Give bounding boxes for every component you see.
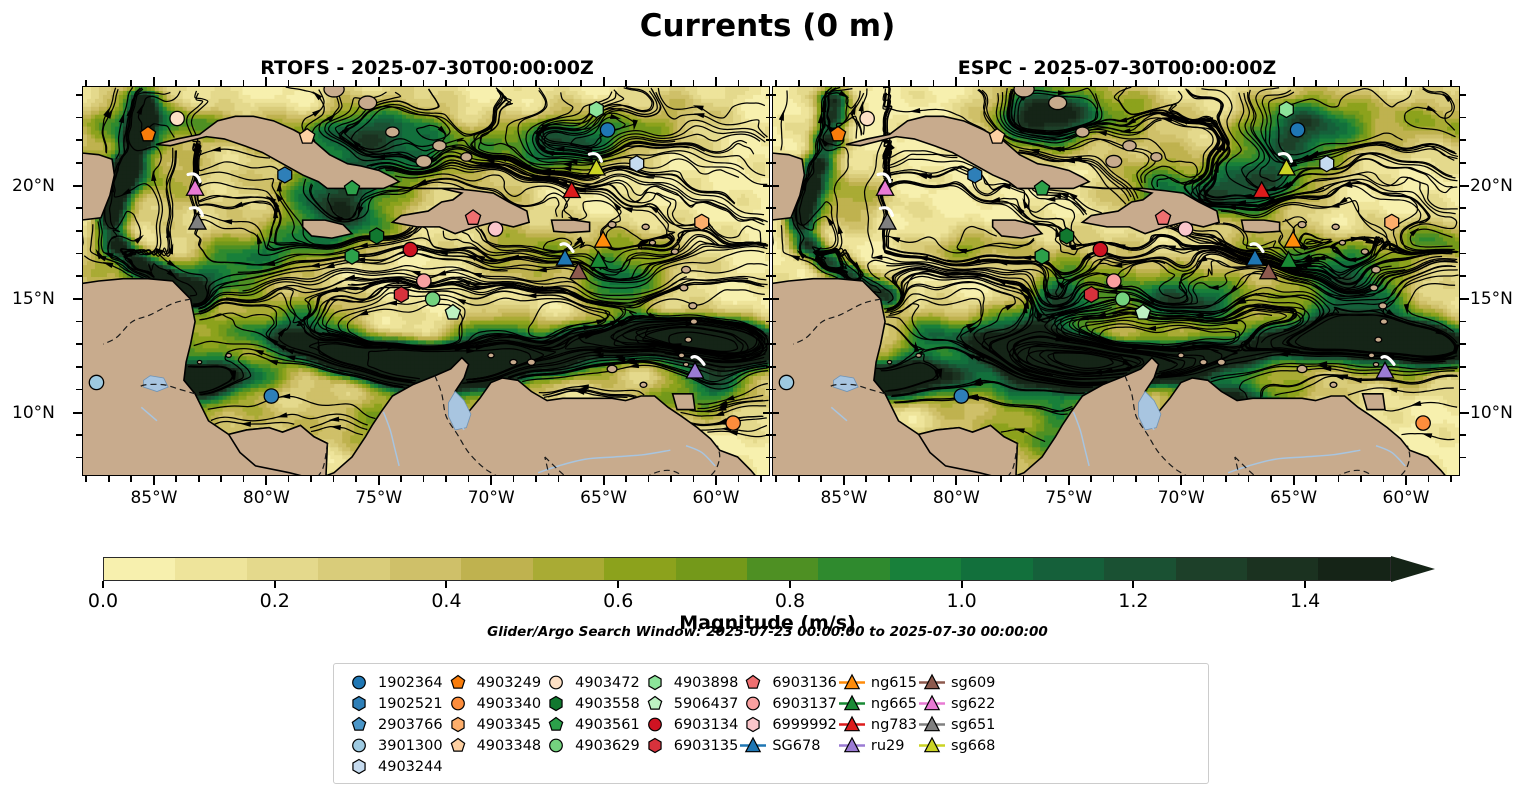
x-tick-top xyxy=(1023,80,1025,86)
x-tick-top xyxy=(603,77,605,86)
y-tick xyxy=(766,94,772,96)
colorbar-segment xyxy=(390,558,461,580)
x-axis-label: 60°W xyxy=(1383,488,1430,508)
x-tick xyxy=(310,476,312,482)
platform-marker xyxy=(1093,242,1107,256)
legend-label: sg622 xyxy=(947,696,995,712)
colorbar[interactable] xyxy=(103,557,1433,581)
y-tick xyxy=(766,434,772,436)
colorbar-tick xyxy=(274,581,276,588)
x-tick xyxy=(888,476,890,482)
legend-item[interactable]: 6903137 xyxy=(738,693,837,714)
x-axis-label: 65°W xyxy=(1270,488,1317,508)
x-tick xyxy=(220,476,222,482)
y-tick xyxy=(766,162,772,164)
platform-marker xyxy=(1385,214,1399,230)
legend-item[interactable]: 4903348 xyxy=(443,735,542,756)
x-tick xyxy=(468,476,470,482)
x-axis-label: 80°W xyxy=(243,488,290,508)
island xyxy=(690,319,697,324)
x-tick-top xyxy=(738,80,740,86)
legend-item[interactable]: 4903472 xyxy=(541,672,640,693)
platform-marker xyxy=(426,292,440,306)
legend-label: 4903345 xyxy=(473,717,542,733)
island xyxy=(678,353,684,358)
x-tick xyxy=(910,476,912,482)
y-tick xyxy=(76,139,82,141)
legend-item[interactable]: 1902521 xyxy=(344,693,443,714)
x-tick-top xyxy=(760,80,762,86)
colorbar-tick xyxy=(445,581,447,588)
x-tick xyxy=(1270,476,1272,482)
x-tick xyxy=(603,476,605,485)
y-tick xyxy=(766,457,772,459)
colorbar-tick-label: 1.2 xyxy=(1118,590,1148,612)
island xyxy=(1368,353,1374,358)
colorbar-tick xyxy=(617,581,619,588)
legend-marker-hexagon-icon xyxy=(640,673,670,692)
x-axis-label: 70°W xyxy=(468,488,515,508)
legend-marker-hexagon-icon xyxy=(344,694,374,713)
legend-label: 6903137 xyxy=(768,696,837,712)
panel-title-right: ESPC - 2025-07-30T00:00:00Z xyxy=(772,57,1462,79)
island xyxy=(916,353,921,357)
x-tick xyxy=(760,476,762,482)
x-tick xyxy=(1068,476,1070,485)
legend-item[interactable]: 4903244 xyxy=(344,756,443,777)
colorbar-tick-label: 1.0 xyxy=(947,590,977,612)
island xyxy=(887,360,891,363)
x-axis-label: 75°W xyxy=(355,488,402,508)
platform-marker xyxy=(600,123,614,137)
legend-marker-circle-icon xyxy=(541,736,571,755)
legend-column: ng615ng665ng783ru29 xyxy=(837,672,917,756)
y-tick xyxy=(76,253,82,255)
legend-label: 4903244 xyxy=(374,759,443,775)
colorbar-segment xyxy=(318,558,389,580)
y-axis-label-right: 15°N xyxy=(1470,289,1513,309)
legend-marker-hexagon-icon xyxy=(640,736,670,755)
legend-marker-triangle-line-icon xyxy=(917,694,947,713)
legend-marker-pentagon-icon xyxy=(344,715,374,734)
colorbar-segment xyxy=(175,558,246,580)
colorbar-segment xyxy=(1176,558,1247,580)
y-tick-right xyxy=(1460,366,1466,368)
island xyxy=(1200,359,1207,364)
island xyxy=(685,337,692,342)
map-panel-rtofs[interactable] xyxy=(82,86,770,476)
y-tick xyxy=(76,321,82,323)
colorbar-segment xyxy=(890,558,961,580)
x-tick-top xyxy=(1158,80,1160,86)
y-tick-right xyxy=(1460,434,1466,436)
legend-marker-hexagon-icon xyxy=(443,715,473,734)
colorbar-segment xyxy=(461,558,532,580)
x-tick xyxy=(490,476,492,485)
x-tick-top xyxy=(1360,80,1362,86)
x-tick-top xyxy=(1293,77,1295,86)
x-tick-top xyxy=(85,80,87,86)
platform-marker xyxy=(589,102,603,118)
y-tick xyxy=(766,389,772,391)
x-tick xyxy=(715,476,717,485)
y-tick xyxy=(766,366,772,368)
platform-marker xyxy=(264,389,278,403)
x-tick xyxy=(243,476,245,482)
platform-marker xyxy=(370,228,384,244)
y-tick xyxy=(766,275,772,277)
x-tick-top xyxy=(108,80,110,86)
map-panel-espc[interactable] xyxy=(772,86,1460,476)
legend-item[interactable]: ng615 xyxy=(837,672,917,693)
x-axis-label: 60°W xyxy=(693,488,740,508)
legend-marker-pentagon-icon xyxy=(541,715,571,734)
colorbar-tick xyxy=(961,581,963,588)
platform-marker xyxy=(488,222,502,236)
colorbar-tick xyxy=(789,581,791,588)
island xyxy=(680,285,688,291)
y-axis-label-right: 20°N xyxy=(1470,176,1513,196)
island xyxy=(1332,224,1339,229)
x-tick xyxy=(648,476,650,482)
legend-item[interactable]: 1902364 xyxy=(344,672,443,693)
legend-item[interactable]: 6903134 xyxy=(640,714,739,735)
x-tick xyxy=(1315,476,1317,482)
x-tick-top xyxy=(1450,80,1452,86)
y-tick-right xyxy=(1460,457,1466,459)
y-tick-right xyxy=(1460,117,1466,119)
y-tick xyxy=(76,389,82,391)
y-tick xyxy=(763,185,772,187)
x-tick-top xyxy=(198,80,200,86)
x-tick xyxy=(198,476,200,482)
x-tick xyxy=(1360,476,1362,482)
x-axis-label: 80°W xyxy=(933,488,980,508)
colorbar-segment xyxy=(961,558,1032,580)
colorbar-segment xyxy=(676,558,747,580)
y-tick-right xyxy=(1460,162,1466,164)
x-tick-top xyxy=(423,80,425,86)
legend-marker-triangle-line-icon xyxy=(837,736,867,755)
y-tick xyxy=(76,117,82,119)
x-tick xyxy=(1225,476,1227,482)
y-tick xyxy=(766,117,772,119)
x-tick-top xyxy=(130,80,132,86)
legend-label: sg609 xyxy=(947,675,995,691)
legend-label: 4903249 xyxy=(473,675,542,691)
x-tick-top xyxy=(490,77,492,86)
colorbar-tick xyxy=(1132,581,1134,588)
x-tick xyxy=(355,476,357,482)
platform-marker xyxy=(954,389,968,403)
y-tick xyxy=(76,230,82,232)
x-tick-top xyxy=(513,80,515,86)
x-tick xyxy=(865,476,867,482)
x-tick xyxy=(978,476,980,482)
y-tick xyxy=(763,412,772,414)
legend-label: 4903348 xyxy=(473,738,542,754)
x-tick-top xyxy=(843,77,845,86)
legend-item[interactable]: 6903135 xyxy=(640,735,739,756)
x-tick xyxy=(175,476,177,482)
platform-marker xyxy=(1290,123,1304,137)
y-tick xyxy=(73,185,82,187)
y-axis-label-left: 15°N xyxy=(12,289,55,309)
legend-column: sg609sg622sg651sg668 xyxy=(917,672,995,756)
legend-label: ng783 xyxy=(867,717,917,733)
legend-label: 4903340 xyxy=(473,696,542,712)
land-trinidad xyxy=(673,394,695,410)
legend-item[interactable]: 5906437 xyxy=(640,693,739,714)
x-tick xyxy=(1203,476,1205,482)
island xyxy=(226,353,231,357)
island xyxy=(510,359,517,364)
x-tick-top xyxy=(468,80,470,86)
x-tick xyxy=(1158,476,1160,482)
x-tick xyxy=(1405,476,1407,485)
x-tick xyxy=(378,476,380,485)
legend-marker-triangle-line-icon xyxy=(837,715,867,734)
platform-marker xyxy=(89,375,103,389)
x-tick-top xyxy=(220,80,222,86)
platform-marker xyxy=(1107,274,1121,288)
page-title: Currents (0 m) xyxy=(0,8,1535,44)
y-tick xyxy=(76,94,82,96)
colorbar-extend-arrow xyxy=(1391,556,1435,582)
platform-marker xyxy=(1178,222,1192,236)
legend-item[interactable]: 6999992 xyxy=(738,714,837,735)
legend-item[interactable]: 4903629 xyxy=(541,735,640,756)
legend-marker-triangle-line-icon xyxy=(917,736,947,755)
platform-marker xyxy=(1035,248,1049,264)
x-tick-top xyxy=(1000,80,1002,86)
island xyxy=(1298,222,1306,228)
y-tick xyxy=(766,207,772,209)
x-tick-top xyxy=(1315,80,1317,86)
legend-item[interactable]: 3901300 xyxy=(344,735,443,756)
x-tick-top xyxy=(288,80,290,86)
y-axis-label-left: 20°N xyxy=(12,176,55,196)
x-axis-label: 70°W xyxy=(1158,488,1205,508)
colorbar-gradient xyxy=(103,557,1391,581)
land-puertorico xyxy=(552,220,590,232)
legend-label: 5906437 xyxy=(670,696,739,712)
colorbar-tick xyxy=(102,581,104,588)
legend-item[interactable]: sg668 xyxy=(917,735,995,756)
x-tick xyxy=(288,476,290,482)
platform-marker xyxy=(695,214,709,230)
legend-item[interactable]: 4903249 xyxy=(443,672,542,693)
x-tick xyxy=(1023,476,1025,482)
y-tick-right xyxy=(1460,139,1466,141)
island xyxy=(416,155,432,167)
x-tick xyxy=(423,476,425,482)
x-tick xyxy=(693,476,695,482)
x-tick xyxy=(1090,476,1092,482)
island xyxy=(1372,266,1381,273)
x-tick-top xyxy=(1090,80,1092,86)
island xyxy=(1373,362,1378,366)
island xyxy=(324,87,344,97)
legend-box[interactable]: 1902364190252129037663901300490324449032… xyxy=(333,663,1209,784)
colorbar-tick-label: 0.0 xyxy=(88,590,118,612)
y-tick-right xyxy=(1460,94,1466,96)
y-tick-right xyxy=(1460,298,1469,300)
island xyxy=(197,360,201,363)
legend-marker-circle-icon xyxy=(738,694,768,713)
land-trinidad xyxy=(1363,394,1385,410)
colorbar-segment xyxy=(1318,558,1389,580)
island xyxy=(1178,353,1184,358)
x-tick-top xyxy=(153,77,155,86)
x-tick-top xyxy=(1203,80,1205,86)
platform-marker xyxy=(345,248,359,264)
legend-item[interactable]: ng665 xyxy=(837,693,917,714)
colorbar-tick xyxy=(1304,581,1306,588)
x-tick-top xyxy=(445,80,447,86)
island xyxy=(1375,337,1382,342)
x-tick-top xyxy=(1225,80,1227,86)
island xyxy=(1123,141,1136,151)
x-tick-top xyxy=(1338,80,1340,86)
legend-item[interactable]: sg609 xyxy=(917,672,995,693)
legend-marker-circle-icon xyxy=(344,673,374,692)
island xyxy=(433,141,446,151)
x-tick-top xyxy=(1180,77,1182,86)
legend-marker-triangle-line-icon xyxy=(917,715,947,734)
y-tick xyxy=(73,298,82,300)
island xyxy=(1380,319,1387,324)
legend-marker-triangle-line-icon xyxy=(917,673,947,692)
y-tick xyxy=(766,230,772,232)
x-tick xyxy=(670,476,672,482)
y-tick xyxy=(73,412,82,414)
x-tick-top xyxy=(1045,80,1047,86)
x-tick xyxy=(798,476,800,482)
legend-label: 1902364 xyxy=(374,675,443,691)
platform-marker xyxy=(726,416,740,430)
x-tick-top xyxy=(265,77,267,86)
x-tick-top xyxy=(933,80,935,86)
island xyxy=(689,303,697,309)
platform-marker xyxy=(1060,228,1074,244)
y-tick-right xyxy=(1460,321,1466,323)
island xyxy=(1106,155,1122,167)
platform-marker xyxy=(1279,102,1293,118)
y-axis-label-right: 10°N xyxy=(1470,403,1513,423)
x-axis-label: 85°W xyxy=(820,488,867,508)
colorbar-segment xyxy=(1033,558,1104,580)
legend-label: 4903629 xyxy=(571,738,640,754)
x-tick xyxy=(535,476,537,482)
x-tick-top xyxy=(670,80,672,86)
y-tick-right xyxy=(1460,185,1469,187)
y-tick-right xyxy=(1460,253,1466,255)
x-tick xyxy=(820,476,822,482)
y-tick xyxy=(76,343,82,345)
figure-canvas: Currents (0 m) RTOFS - 2025-07-30T00:00:… xyxy=(0,0,1535,802)
y-tick xyxy=(76,457,82,459)
legend-item[interactable]: SG678 xyxy=(738,735,837,756)
platform-marker xyxy=(278,167,292,183)
legend-item[interactable]: sg622 xyxy=(917,693,995,714)
legend-marker-pentagon-icon xyxy=(443,673,473,692)
legend-label: 4903898 xyxy=(670,675,739,691)
island xyxy=(683,362,688,366)
island xyxy=(1014,87,1034,97)
legend-label: 4903561 xyxy=(571,717,640,733)
legend-item[interactable]: 4903898 xyxy=(640,672,739,693)
legend-item[interactable]: 4903561 xyxy=(541,714,640,735)
x-tick-top xyxy=(820,80,822,86)
search-window-caption: Glider/Argo Search Window: 2025-07-23 00… xyxy=(0,624,1535,640)
y-tick-right xyxy=(1460,343,1466,345)
legend-label: 6903135 xyxy=(670,738,739,754)
y-tick xyxy=(76,275,82,277)
x-tick xyxy=(1135,476,1137,482)
x-axis-label: 85°W xyxy=(130,488,177,508)
legend-item[interactable]: sg651 xyxy=(917,714,995,735)
x-tick xyxy=(1450,476,1452,482)
platform-marker xyxy=(417,274,431,288)
colorbar-segment xyxy=(818,558,889,580)
x-tick xyxy=(955,476,957,485)
island xyxy=(642,224,649,229)
legend-marker-circle-icon xyxy=(640,715,670,734)
y-tick xyxy=(766,321,772,323)
colorbar-tick-label: 0.8 xyxy=(775,590,805,612)
x-tick xyxy=(85,476,87,482)
y-tick-right xyxy=(1460,389,1466,391)
legend-marker-circle-icon xyxy=(541,673,571,692)
legend-label: sg668 xyxy=(947,738,995,754)
x-tick-top xyxy=(1113,80,1115,86)
legend-item[interactable]: 6903136 xyxy=(738,672,837,693)
legend-label: sg651 xyxy=(947,717,995,733)
x-tick-top xyxy=(310,80,312,86)
x-tick xyxy=(1428,476,1430,482)
legend-item[interactable]: 4903340 xyxy=(443,693,542,714)
x-tick xyxy=(333,476,335,482)
x-tick-top xyxy=(333,80,335,86)
x-tick-top xyxy=(1135,80,1137,86)
x-tick-top xyxy=(978,80,980,86)
x-tick-top xyxy=(1068,77,1070,86)
x-tick xyxy=(400,476,402,482)
legend-marker-hexagon-icon xyxy=(738,715,768,734)
x-tick-top xyxy=(715,77,717,86)
legend-marker-triangle-line-icon xyxy=(837,694,867,713)
land-puertorico xyxy=(1242,220,1280,232)
y-tick-right xyxy=(1460,230,1466,232)
legend-item[interactable]: ru29 xyxy=(837,735,917,756)
legend-item[interactable]: 2903766 xyxy=(344,714,443,735)
island xyxy=(649,240,655,245)
x-tick-top xyxy=(798,80,800,86)
x-tick-top xyxy=(888,80,890,86)
panel-title-left: RTOFS - 2025-07-30T00:00:00Z xyxy=(82,57,772,79)
x-tick-top xyxy=(175,80,177,86)
x-tick-top xyxy=(955,77,957,86)
legend-item[interactable]: 4903345 xyxy=(443,714,542,735)
island xyxy=(1297,365,1307,372)
legend-item[interactable]: ng783 xyxy=(837,714,917,735)
x-tick xyxy=(1293,476,1295,485)
x-tick xyxy=(265,476,267,485)
x-tick xyxy=(843,476,845,485)
y-tick-right xyxy=(1460,207,1466,209)
legend-item[interactable]: 4903558 xyxy=(541,693,640,714)
